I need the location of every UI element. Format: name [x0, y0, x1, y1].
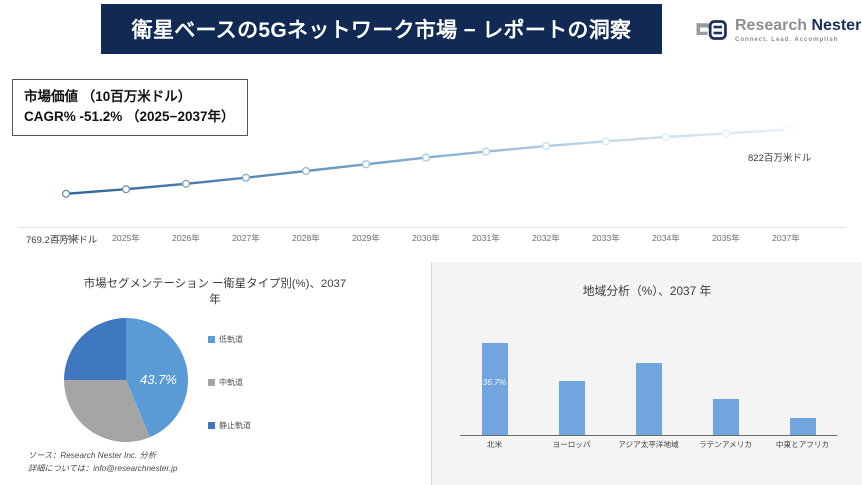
- bar-column: 36.7%: [472, 328, 518, 435]
- line-marker: [483, 148, 490, 155]
- bar-column: [626, 328, 672, 435]
- pie-legend-label: 静止軌道: [219, 420, 251, 431]
- research-nester-logo: Research Nester Connect. Lead. Accomplis…: [694, 11, 854, 49]
- line-marker: [603, 138, 610, 145]
- bar-category-labels: 北米ヨーロッパアジア太平洋地域ラテンアメリカ中東とアフリカ: [456, 439, 841, 455]
- regional-panel: 地域分析（%）、2037 年 36.7% 北米ヨーロッパアジア太平洋地域ラテンア…: [431, 262, 862, 485]
- header: 衛星ベースの5Gネットワーク市場 − レポートの洞察 Research Nest…: [0, 0, 862, 62]
- bar[interactable]: [559, 381, 585, 436]
- logo-mark-icon: [694, 18, 728, 42]
- lower-panels: 市場セグメンテーション ー衛星タイプ別(%)、2037 年 43.7% 低軌道中…: [0, 262, 862, 485]
- bar[interactable]: 36.7%: [482, 343, 508, 435]
- x-tick-label: 2030年: [412, 232, 440, 244]
- bar-category-label: アジア太平洋地域: [613, 439, 685, 455]
- bar-category-label: 北米: [459, 439, 531, 455]
- bar[interactable]: [713, 399, 739, 436]
- line-marker: [663, 134, 670, 141]
- page-title: 衛星ベースの5Gネットワーク市場 − レポートの洞察: [132, 14, 632, 44]
- legend-swatch-icon: [208, 422, 215, 429]
- line-chart-svg: [0, 60, 862, 255]
- legend-swatch-icon: [208, 336, 215, 343]
- x-tick-label: 2025年: [112, 232, 140, 244]
- bar-group: 36.7%: [456, 328, 841, 435]
- x-tick-label: 2028年: [292, 232, 320, 244]
- pie-data-label: 43.7%: [140, 372, 177, 387]
- x-tick-label: 2029年: [352, 232, 380, 244]
- segmentation-title-line1: 市場セグメンテーション ー衛星タイプ別(%)、2037: [84, 278, 346, 290]
- pie-legend-label: 中軌道: [219, 377, 243, 388]
- contact-line: 詳細については：info@researchnester.jp: [28, 463, 178, 476]
- source-footer: ソース：Research Nester Inc. 分析 詳細については：info…: [28, 450, 178, 475]
- x-axis-labels: 2024年2025年2026年2027年2028年2029年2030年2031年…: [18, 232, 846, 250]
- regional-title: 地域分析（%）、2037 年: [432, 262, 862, 299]
- line-marker: [543, 143, 550, 150]
- bar-column: [703, 328, 749, 435]
- report-infographic: 衛星ベースの5Gネットワーク市場 − レポートの洞察 Research Nest…: [0, 0, 862, 485]
- pie-legend-label: 低軌道: [219, 334, 243, 345]
- x-tick-label: 2032年: [532, 232, 560, 244]
- line-marker: [63, 190, 70, 197]
- pie-legend: 低軌道中軌道静止軌道: [208, 318, 308, 447]
- line-marker: [123, 186, 130, 193]
- bar-baseline: [460, 435, 837, 436]
- segmentation-title: 市場セグメンテーション ー衛星タイプ別(%)、2037 年: [0, 262, 430, 308]
- x-tick-label: 2033年: [592, 232, 620, 244]
- title-banner: 衛星ベースの5Gネットワーク市場 − レポートの洞察: [101, 4, 662, 54]
- line-marker: [423, 154, 430, 161]
- segmentation-panel: 市場セグメンテーション ー衛星タイプ別(%)、2037 年 43.7% 低軌道中…: [0, 262, 430, 485]
- bar-column: [780, 328, 826, 435]
- regional-bar-chart: 36.7% 北米ヨーロッパアジア太平洋地域ラテンアメリカ中東とアフリカ: [456, 312, 841, 457]
- bar-category-label: ヨーロッパ: [536, 439, 608, 455]
- legend-swatch-icon: [208, 379, 215, 386]
- line-marker: [243, 174, 250, 181]
- pie-chart: 43.7% 低軌道中軌道静止軌道: [20, 310, 310, 450]
- line-marker: [723, 130, 730, 137]
- x-tick-label: 2024年: [52, 232, 80, 244]
- line-marker: [183, 180, 190, 187]
- x-tick-label: 2034年: [652, 232, 680, 244]
- segmentation-title-line2: 年: [209, 294, 220, 306]
- x-tick-label: 2026年: [172, 232, 200, 244]
- logo-name: Research Nester: [735, 17, 861, 34]
- logo-text: Research Nester Connect. Lead. Accomplis…: [735, 17, 861, 43]
- x-tick-label: 2027年: [232, 232, 260, 244]
- line-end-label: 822百万米ドル: [748, 150, 811, 164]
- line-marker: [303, 168, 310, 175]
- market-value-line-chart: 769.2百万米ドル 822百万米ドル: [0, 60, 862, 255]
- line-marker: [783, 126, 790, 133]
- bar-value-label: 36.7%: [482, 377, 508, 387]
- x-tick-label: 2035年: [712, 232, 740, 244]
- pie-legend-item[interactable]: 静止軌道: [208, 404, 308, 447]
- bar-column: [549, 328, 595, 435]
- pie-slice: [64, 318, 126, 380]
- x-tick-label: 2037年: [772, 232, 800, 244]
- bar[interactable]: [790, 418, 816, 435]
- pie-legend-item[interactable]: 中軌道: [208, 361, 308, 404]
- x-tick-label: 2031年: [472, 232, 500, 244]
- bar[interactable]: [636, 363, 662, 435]
- x-axis-line: [18, 227, 846, 228]
- pie-legend-item[interactable]: 低軌道: [208, 318, 308, 361]
- logo-tagline: Connect. Lead. Accomplish: [735, 36, 861, 43]
- line-marker: [363, 161, 370, 168]
- source-line: ソース：Research Nester Inc. 分析: [28, 450, 178, 463]
- bar-category-label: ラテンアメリカ: [690, 439, 762, 455]
- bar-category-label: 中東とアフリカ: [767, 439, 839, 455]
